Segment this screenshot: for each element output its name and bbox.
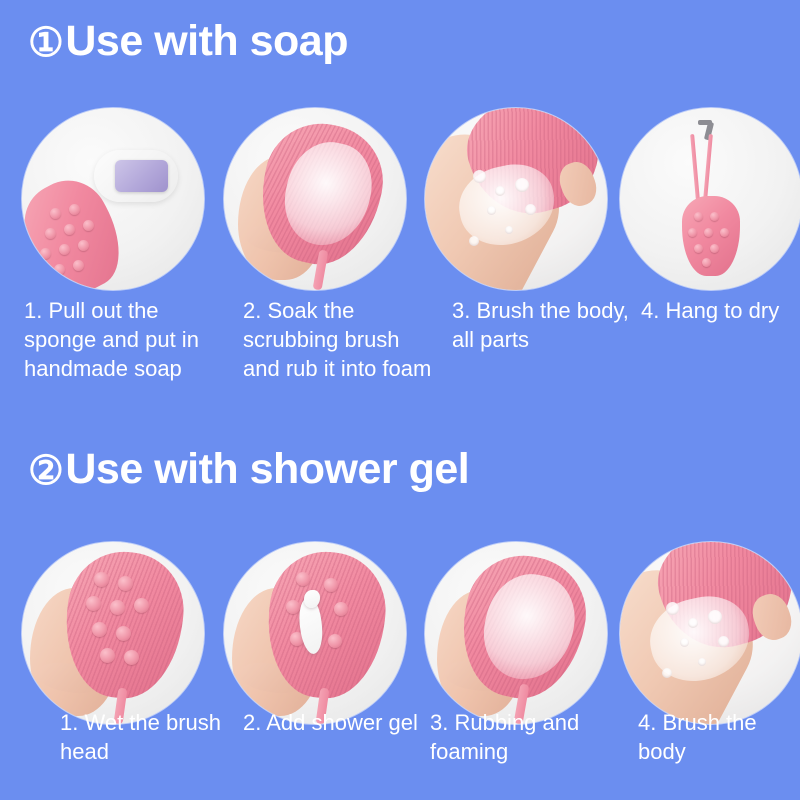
- section-number-2-icon: ②: [28, 451, 63, 491]
- step-caption: 3. Rubbing and foaming: [430, 708, 620, 766]
- section-heading-shower-gel: ② Use with shower gel: [0, 448, 469, 491]
- scene-brushing-body: [425, 108, 607, 290]
- photo-row-shower-gel: [0, 542, 800, 724]
- step-photo-soap-2: [224, 108, 406, 290]
- scene-brush-the-body: [620, 542, 800, 724]
- step-photo-gel-4: [620, 542, 800, 724]
- photo-circle: [620, 542, 800, 724]
- step-caption: 3. Brush the body, all parts: [452, 296, 632, 354]
- step-photo-soap-4: [620, 108, 800, 290]
- scene-foaming-brush: [224, 108, 406, 290]
- section-number-1-icon: ①: [28, 23, 63, 63]
- step-caption: 4. Hang to dry: [641, 296, 800, 325]
- photo-circle: [224, 108, 406, 290]
- photo-circle: [22, 542, 204, 724]
- step-photo-soap-3: [425, 108, 607, 290]
- step-caption: 1. Wet the brush head: [60, 708, 235, 766]
- photo-circle: [425, 108, 607, 290]
- section-heading-soap: ① Use with soap: [0, 20, 348, 63]
- photo-circle: [425, 542, 607, 724]
- step-caption: 2. Soak the scrubbing brush and rub it i…: [243, 296, 433, 383]
- section-title-shower-gel: Use with shower gel: [65, 448, 469, 491]
- step-photo-gel-2: [224, 542, 406, 724]
- photo-circle: [22, 108, 204, 290]
- step-photo-gel-1: [22, 542, 204, 724]
- product-instruction-infographic: ① Use with soap: [0, 0, 800, 800]
- scene-hanging-to-dry: [620, 108, 800, 290]
- scene-brush-with-soap: [22, 108, 204, 290]
- section-title-soap: Use with soap: [65, 20, 348, 63]
- step-caption: 1. Pull out the sponge and put in handma…: [24, 296, 220, 383]
- step-photo-gel-3: [425, 542, 607, 724]
- step-photo-soap-1: [22, 108, 204, 290]
- photo-circle: [224, 542, 406, 724]
- scene-rubbing-and-foaming: [425, 542, 607, 724]
- photo-row-soap: [0, 108, 800, 290]
- scene-wet-brush-head: [22, 542, 204, 724]
- step-caption: 2. Add shower gel: [243, 708, 428, 737]
- scene-add-shower-gel: [224, 542, 406, 724]
- photo-circle: [620, 108, 800, 290]
- step-caption: 4. Brush the body: [638, 708, 798, 766]
